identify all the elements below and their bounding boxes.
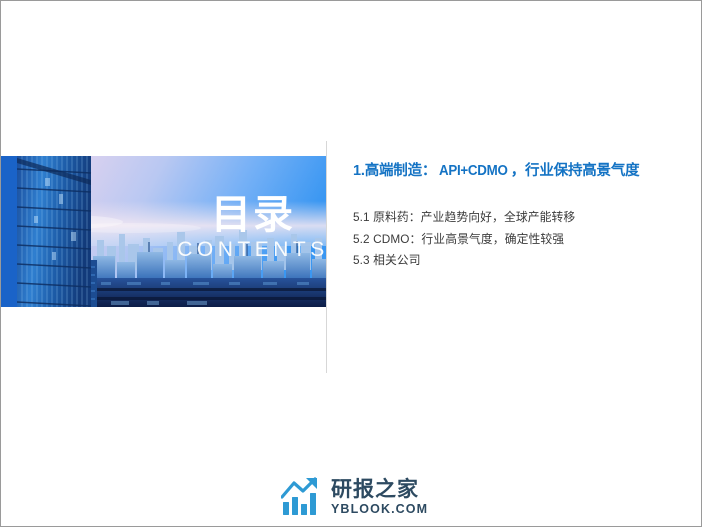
cover-artwork: 目录 CONTENTS	[1, 156, 326, 307]
slide-page: 目录 CONTENTS 1.高端制造：API+CDMO，行业保持高景气度 5.1…	[0, 0, 702, 527]
brand-name-cn: 研报之家	[331, 478, 428, 501]
brand-name-en: YBLOOK.COM	[331, 502, 428, 517]
cover-title-en: CONTENTS	[177, 238, 326, 261]
section-title-part1: 高端制造：	[365, 163, 437, 179]
bar-chart-up-arrow-icon	[281, 477, 325, 517]
brand-text: 研报之家 YBLOOK.COM	[331, 478, 428, 517]
cover-title-cn: 目录	[211, 193, 295, 237]
column-divider	[326, 141, 327, 373]
section-title: 1.高端制造：API+CDMO，行业保持高景气度	[353, 161, 693, 181]
section-item-list: 5.1 原料药：产业趋势向好，全球产能转移 5.2 CDMO：行业高景气度，确定…	[353, 207, 693, 272]
section-content: 1.高端制造：API+CDMO，行业保持高景气度 5.1 原料药：产业趋势向好，…	[353, 161, 693, 272]
footer-logo: 研报之家 YBLOOK.COM	[281, 477, 428, 517]
section-title-emphasis: API+CDMO	[439, 161, 508, 181]
section-title-part2: ，行业保持高景气度	[511, 163, 640, 179]
cover-image: 目录 CONTENTS	[1, 156, 326, 307]
list-item[interactable]: 5.3 相关公司	[353, 250, 693, 272]
section-number: 1.	[353, 163, 365, 179]
list-item[interactable]: 5.1 原料药：产业趋势向好，全球产能转移	[353, 207, 693, 229]
list-item[interactable]: 5.2 CDMO：行业高景气度，确定性较强	[353, 229, 693, 251]
